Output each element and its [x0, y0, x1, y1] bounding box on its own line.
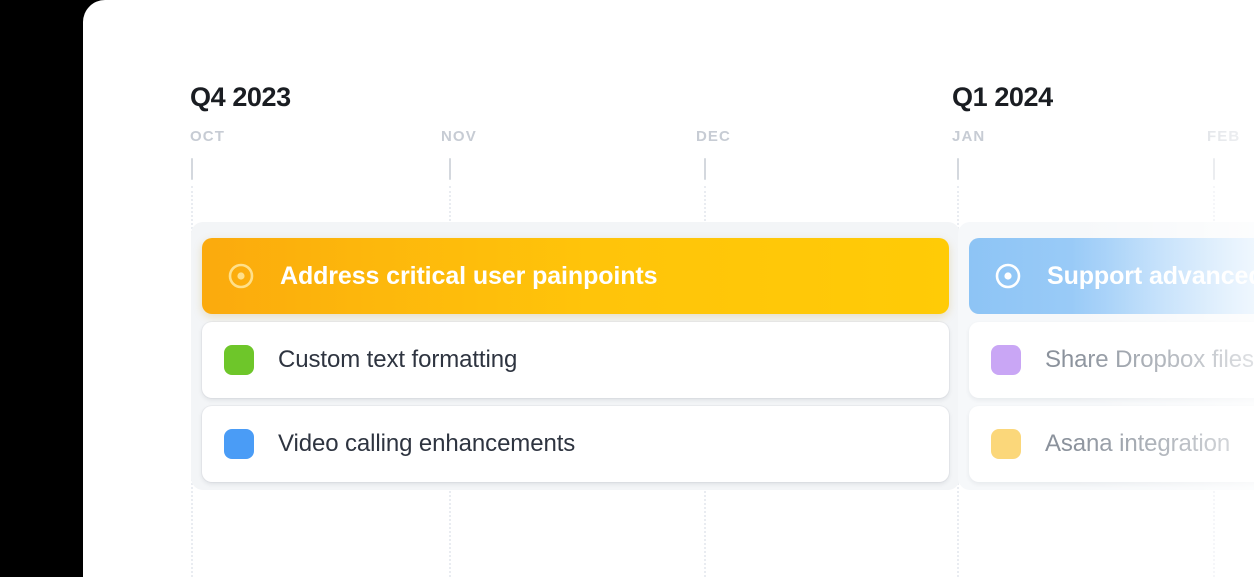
timeline-item-video-calling-enhancements[interactable]: Video calling enhancements — [202, 406, 949, 482]
month-label-oct: OCT — [190, 128, 225, 145]
month-tick-feb — [1213, 158, 1215, 180]
month-label-dec: DEC — [696, 128, 731, 145]
color-swatch-icon — [991, 345, 1021, 375]
timeline-item-custom-text-formatting[interactable]: Custom text formatting — [202, 322, 949, 398]
roadmap-timeline-root: Q4 2023 OCT NOV DEC JAN FEB Q1 2024 Addr — [0, 0, 1254, 577]
timeline-item-support-advanced-integrations[interactable]: Support advanced integrations — [969, 238, 1254, 314]
quarter-header-q1-2024: Q1 2024 — [952, 82, 1053, 113]
timeline-item-address-critical-user-painpoints[interactable]: Address critical user painpoints — [202, 238, 949, 314]
target-icon — [226, 261, 256, 291]
timeline-item-label: Share Dropbox files — [1045, 346, 1254, 374]
color-swatch-icon — [224, 429, 254, 459]
card-group-q1-2024: Support advanced integrations Share Drop… — [958, 222, 1254, 490]
timeline-panel: Q4 2023 OCT NOV DEC JAN FEB Q1 2024 Addr — [83, 0, 1254, 577]
month-tick-oct — [191, 158, 193, 180]
month-label-nov: NOV — [441, 128, 477, 145]
month-tick-dec — [704, 158, 706, 180]
month-tick-jan — [957, 158, 959, 180]
timeline-item-asana-integration[interactable]: Asana integration — [969, 406, 1254, 482]
timeline-item-label: Support advanced integrations — [1047, 262, 1254, 291]
color-swatch-icon — [991, 429, 1021, 459]
timeline-item-label: Asana integration — [1045, 430, 1230, 458]
quarter-title-q4-2023: Q4 2023 — [190, 82, 291, 113]
target-icon — [993, 261, 1023, 291]
timeline-item-label: Video calling enhancements — [278, 430, 575, 458]
card-group-q4-2023: Address critical user painpoints Custom … — [191, 222, 960, 490]
color-swatch-icon — [224, 345, 254, 375]
timeline-item-share-dropbox-files[interactable]: Share Dropbox files — [969, 322, 1254, 398]
month-label-feb: FEB — [1207, 128, 1240, 145]
timeline-item-label: Address critical user painpoints — [280, 262, 657, 291]
quarter-header-q4-2023: Q4 2023 — [190, 82, 291, 113]
timeline-item-label: Custom text formatting — [278, 346, 517, 374]
month-label-jan: JAN — [952, 128, 985, 145]
quarter-title-q1-2024: Q1 2024 — [952, 82, 1053, 113]
month-tick-nov — [449, 158, 451, 180]
